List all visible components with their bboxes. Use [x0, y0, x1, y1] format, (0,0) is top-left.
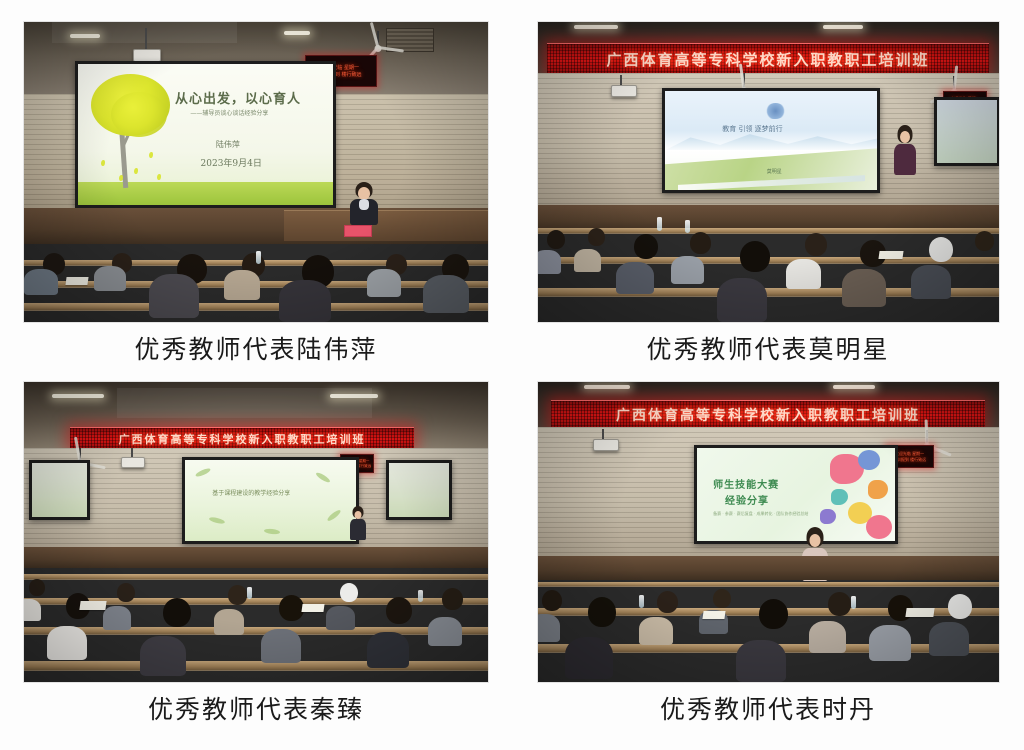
- audience-area-3: [24, 544, 488, 682]
- photo-grid: 欢迎光临 星期一 培训报到 楼行致远: [0, 0, 1024, 750]
- audience-head: [828, 592, 851, 616]
- bench-row: [24, 661, 488, 671]
- slide-presenter: 陆伟萍: [216, 139, 240, 150]
- audience-body: [261, 629, 301, 663]
- slide-title-line2: 经验分享: [725, 492, 769, 507]
- audience-body: [929, 622, 969, 656]
- slide-leaf-decor: [195, 467, 212, 478]
- water-bottle: [418, 590, 423, 602]
- audience-body: [736, 640, 786, 682]
- projector-mount: [145, 28, 147, 50]
- photo-cell-2: 广西体育高等专科学校新入职教职工培训班: [512, 0, 1024, 365]
- audience-head-cap: [929, 237, 953, 262]
- side-slide: [389, 463, 449, 517]
- photo-4: 广西体育高等专科学校新入职教职工培训班 欢迎光临 星期一 培训报到 楼行致远: [538, 382, 999, 682]
- ceiling-fan: [358, 31, 398, 57]
- projector: [593, 439, 619, 451]
- audience-head: [279, 595, 304, 621]
- slide-4: 师生技能大赛 经验分享 备赛 · 参赛 · 赛后复盘 · 成果转化 · 团队协作…: [697, 448, 895, 541]
- audience-body: [428, 617, 462, 646]
- audience-body: [911, 265, 951, 299]
- photo-2: 广西体育高等专科学校新入职教职工培训班: [538, 22, 999, 322]
- side-screen-right: [386, 460, 452, 520]
- falling-leaf: [157, 174, 161, 180]
- audience-body: [786, 259, 821, 289]
- projector: [121, 457, 145, 468]
- audience-body: [639, 617, 673, 645]
- speaker-figure-2: [892, 127, 918, 175]
- audience-body: [574, 249, 601, 272]
- slide-title: 基于课程建设的教学经验分享: [212, 488, 290, 497]
- slide-leaf-decor: [208, 516, 225, 525]
- ceiling-light: [833, 385, 875, 389]
- audience-body: [367, 632, 409, 668]
- side-screen: [934, 97, 999, 166]
- audience-head: [542, 590, 562, 611]
- audience-body: [149, 274, 199, 318]
- audience-area-1: [24, 232, 488, 322]
- slide-date: 2023年9月4日: [201, 156, 262, 169]
- bench-row: [24, 627, 488, 635]
- water-bottle: [256, 251, 261, 264]
- illustration-blob: [831, 489, 848, 505]
- slide-leaf-decor: [326, 509, 342, 523]
- speaker-head: [810, 534, 821, 547]
- audience-body: [214, 609, 244, 635]
- audience-head: [588, 597, 616, 627]
- bench-row: [538, 582, 999, 587]
- audience-body: [140, 636, 186, 676]
- audience-body: [565, 637, 613, 679]
- slide-subtitle: 备赛 · 参赛 · 赛后复盘 · 成果转化 · 团队协作经验总结: [713, 511, 808, 517]
- audience-head: [228, 585, 247, 605]
- audience-body: [671, 256, 704, 284]
- audience-body: [538, 614, 561, 642]
- lecture-hall-scene-4: 广西体育高等专科学校新入职教职工培训班 欢迎光临 星期一 培训报到 楼行致远: [538, 382, 999, 682]
- speaker-head: [354, 511, 361, 519]
- audience-body: [616, 262, 654, 294]
- audience-body: [94, 266, 126, 291]
- audience-area-4: [538, 550, 999, 682]
- paper-sheet: [302, 604, 325, 612]
- audience-head: [547, 230, 565, 249]
- paper-sheet: [79, 601, 106, 610]
- photo-cell-3: 广西体育高等专科学校新入职教职工培训班 欢迎光临 星期一 培训报到 楼行致远: [0, 365, 512, 750]
- photo-caption-2: 优秀教师代表莫明星: [646, 336, 889, 364]
- photo-caption-4: 优秀教师代表时丹: [660, 696, 876, 724]
- side-slide: [937, 100, 997, 163]
- falling-leaf: [119, 175, 123, 181]
- slide-grass: [78, 182, 333, 205]
- slide-3: 基于课程建设的教学经验分享: [185, 460, 357, 541]
- ceiling-light: [584, 385, 630, 389]
- photo-1: 欢迎光临 星期一 培训报到 楼行致远: [24, 22, 488, 322]
- ceiling-light: [574, 25, 618, 29]
- paper-sheet: [703, 611, 726, 619]
- illustration-blob: [820, 509, 836, 524]
- projector: [611, 85, 637, 97]
- slide-presenter: 莫明星: [767, 168, 782, 175]
- lecture-hall-scene-2: 广西体育高等专科学校新入职教职工培训班: [538, 22, 999, 322]
- audience-body: [326, 606, 355, 630]
- slide-subtitle: ——辅导员谈心谈话经验分享: [190, 108, 268, 117]
- audience-head: [713, 589, 731, 608]
- audience-area-2: [538, 196, 999, 322]
- audience-body: [224, 270, 260, 300]
- audience-head: [759, 599, 788, 629]
- audience-head: [29, 579, 45, 596]
- audience-head: [117, 583, 135, 602]
- audience-head-cap: [948, 594, 972, 619]
- audience-head: [588, 228, 605, 246]
- paper-sheet: [878, 251, 903, 259]
- audience-head: [805, 233, 827, 256]
- projection-screen-3: 基于课程建设的教学经验分享: [182, 457, 360, 544]
- led-banner-text: 广西体育高等专科学校新入职教职工培训班: [616, 405, 920, 425]
- slide-leaf-decor: [315, 471, 331, 484]
- water-bottle: [247, 587, 252, 599]
- paper-sheet: [906, 608, 935, 617]
- led-banner-2: 广西体育高等专科学校新入职教职工培训班: [547, 43, 990, 75]
- audience-body: [538, 250, 561, 274]
- audience-head: [442, 588, 463, 610]
- audience-head: [690, 232, 711, 254]
- bench-row: [538, 228, 999, 234]
- water-bottle: [851, 596, 856, 609]
- side-slide: [32, 463, 88, 517]
- audience-body: [103, 606, 131, 630]
- audience-body: [47, 626, 87, 660]
- audience-head-cap: [340, 583, 358, 602]
- audience-head: [634, 234, 658, 259]
- side-screen-left: [29, 460, 91, 520]
- projection-screen-2: 教育 引领 逐梦前行 莫明星: [662, 88, 880, 193]
- falling-leaf: [149, 152, 153, 158]
- led-banner-3: 广西体育高等专科学校新入职教职工培训班: [70, 427, 413, 450]
- water-bottle: [657, 217, 662, 231]
- falling-leaf: [134, 168, 138, 174]
- ceiling-light: [52, 394, 104, 398]
- ceiling-light: [284, 31, 310, 35]
- paper-sheet: [65, 277, 88, 285]
- illustration-blob: [868, 480, 888, 499]
- illustration-blob: [866, 515, 892, 539]
- ceiling-light: [70, 34, 100, 38]
- slide-title-line1: 师生技能大赛: [713, 476, 779, 491]
- audience-head: [386, 597, 412, 624]
- speaker-figure-1: [349, 184, 379, 226]
- speaker-collar: [359, 199, 369, 210]
- slide-title: 从心出发，以心育人: [175, 88, 301, 107]
- led-banner-4: 广西体育高等专科学校新入职教职工培训班: [551, 400, 984, 429]
- ceiling-light: [330, 394, 378, 398]
- bench-row: [24, 303, 488, 311]
- audience-body: [809, 621, 846, 653]
- audience-head: [975, 231, 994, 251]
- bench-row: [24, 574, 488, 580]
- audience-body: [717, 278, 767, 322]
- audience-body: [423, 275, 469, 313]
- slide-1: 从心出发，以心育人 ——辅导员谈心谈话经验分享 陆伟萍 2023年9月4日: [78, 64, 333, 205]
- led-banner-text: 广西体育高等专科学校新入职教职工培训班: [606, 49, 929, 70]
- lecture-hall-scene-1: 欢迎光临 星期一 培训报到 楼行致远: [24, 22, 488, 322]
- audience-head: [163, 598, 191, 627]
- audience-head: [740, 241, 770, 272]
- tree-canopy: [111, 92, 167, 137]
- ceiling-light: [823, 25, 863, 29]
- water-bottle: [639, 595, 644, 608]
- lecture-hall-scene-3: 广西体育高等专科学校新入职教职工培训班 欢迎光临 星期一 培训报到 楼行致远: [24, 382, 488, 682]
- audience-body: [24, 269, 58, 295]
- audience-body: [367, 269, 401, 297]
- audience-body: [24, 599, 41, 621]
- audience-body: [869, 625, 911, 661]
- water-bottle: [685, 220, 690, 233]
- illustration-blob: [858, 450, 880, 470]
- document-page: 欢迎光临 星期一 培训报到 楼行致远: [0, 0, 1024, 750]
- speaker-head: [900, 131, 910, 143]
- speaker-torso: [350, 519, 366, 540]
- photo-3: 广西体育高等专科学校新入职教职工培训班 欢迎光临 星期一 培训报到 楼行致远: [24, 382, 488, 682]
- photo-caption-1: 优秀教师代表陆伟萍: [134, 336, 377, 364]
- projection-screen-4: 师生技能大赛 经验分享 备赛 · 参赛 · 赛后复盘 · 成果转化 · 团队协作…: [694, 445, 898, 544]
- slide-leaf-decor: [264, 528, 280, 535]
- slide-logo: [765, 103, 786, 119]
- audience-body: [842, 269, 886, 307]
- ceiling-panel: [117, 388, 372, 418]
- speaker-figure-3: [349, 508, 367, 540]
- falling-leaf: [101, 160, 105, 166]
- photo-caption-3: 优秀教师代表秦臻: [148, 696, 364, 724]
- photo-cell-1: 欢迎光临 星期一 培训报到 楼行致远: [0, 0, 512, 365]
- projection-screen-1: 从心出发，以心育人 ——辅导员谈心谈话经验分享 陆伟萍 2023年9月4日: [75, 61, 336, 208]
- audience-body: [279, 280, 331, 322]
- led-banner-text: 广西体育高等专科学校新入职教职工培训班: [119, 431, 366, 447]
- speaker-torso: [894, 144, 916, 175]
- slide-title: 教育 引领 逐梦前行: [722, 124, 782, 134]
- slide-2: 教育 引领 逐梦前行 莫明星: [665, 91, 877, 190]
- photo-cell-4: 广西体育高等专科学校新入职教职工培训班 欢迎光临 星期一 培训报到 楼行致远: [512, 365, 1024, 750]
